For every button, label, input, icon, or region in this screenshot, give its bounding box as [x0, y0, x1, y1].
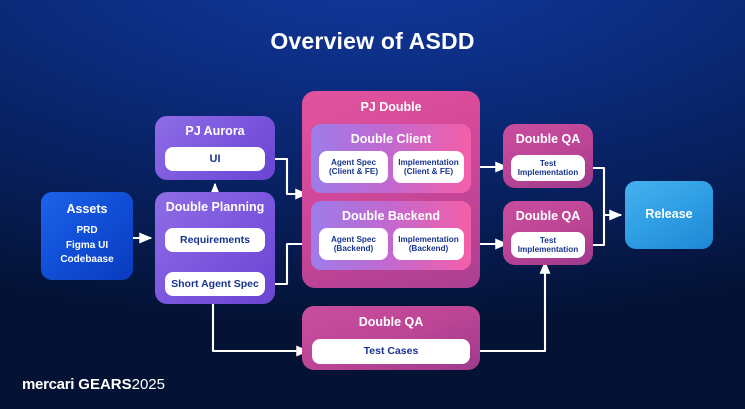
- footer-year: 2025: [132, 376, 165, 393]
- release-title: Release: [625, 207, 713, 221]
- chip-test-implementation-mid[interactable]: Test Implementation: [511, 232, 585, 258]
- chip-line1: Agent Spec: [331, 158, 376, 167]
- chip-line2: (Client & FE): [329, 167, 378, 176]
- chip-test-implementation-top[interactable]: Test Implementation: [511, 155, 585, 181]
- chip-test-cases[interactable]: Test Cases: [312, 339, 470, 364]
- chip-line2: Implementation: [518, 168, 579, 177]
- page-title: Overview of ASDD: [0, 28, 745, 55]
- pj-aurora-title: PJ Aurora: [155, 124, 275, 138]
- assets-item: PRD: [41, 224, 133, 239]
- slide-canvas: Overview of ASDD: [0, 0, 745, 409]
- chip-line2: (Client & FE): [404, 167, 453, 176]
- footer-brand: mercari: [22, 376, 74, 393]
- chip-line1: Implementation: [398, 235, 459, 244]
- double-backend-title: Double Backend: [311, 209, 471, 223]
- footer-branding: mercari GEARS2025: [22, 376, 165, 393]
- arrow-shortspec-to-testcases: [213, 296, 308, 351]
- chip-line1: Test: [540, 236, 556, 245]
- chip-implementation-backend[interactable]: Implementation (Backend): [393, 228, 464, 260]
- pj-double-title: PJ Double: [302, 100, 480, 114]
- double-qa-bottom-title: Double QA: [302, 315, 480, 329]
- double-qa-mid-title: Double QA: [503, 209, 593, 223]
- chip-ui[interactable]: UI: [165, 147, 265, 171]
- node-release[interactable]: Release: [625, 181, 713, 249]
- chip-line1: Agent Spec: [331, 235, 376, 244]
- chip-line1: Implementation: [398, 158, 459, 167]
- chip-line2: (Backend): [334, 244, 374, 253]
- arrow-testcases-to-testimpl-mid: [470, 262, 545, 351]
- double-planning-title: Double Planning: [155, 200, 275, 214]
- double-client-title: Double Client: [311, 132, 471, 146]
- footer-event: GEARS: [78, 376, 131, 393]
- assets-item: Figma UI: [41, 239, 133, 254]
- chip-requirements[interactable]: Requirements: [165, 228, 265, 252]
- chip-line2: (Backend): [409, 244, 449, 253]
- chip-agent-spec-backend[interactable]: Agent Spec (Backend): [319, 228, 388, 260]
- chip-implementation-client[interactable]: Implementation (Client & FE): [393, 151, 464, 183]
- chip-line2: Implementation: [518, 245, 579, 254]
- double-qa-top-title: Double QA: [503, 132, 593, 146]
- chip-short-agent-spec[interactable]: Short Agent Spec: [165, 272, 265, 296]
- chip-line1: Test: [540, 159, 556, 168]
- chip-agent-spec-client[interactable]: Agent Spec (Client & FE): [319, 151, 388, 183]
- assets-title: Assets: [41, 202, 133, 216]
- assets-item-list: PRD Figma UI Codebaase: [41, 224, 133, 268]
- node-assets[interactable]: Assets PRD Figma UI Codebaase: [41, 192, 133, 280]
- assets-item: Codebaase: [41, 253, 133, 268]
